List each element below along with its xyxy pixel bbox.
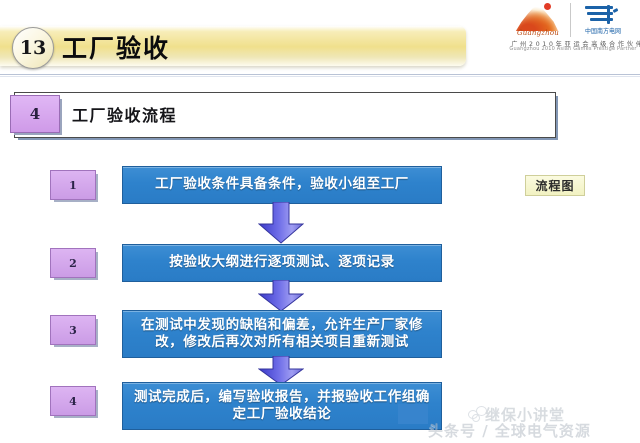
flow-node-text-2: 按验收大纲进行逐项测试、逐项记录 — [161, 254, 403, 271]
step-badge-label-1: 1 — [69, 179, 77, 192]
step-badge-1: 1 — [50, 170, 96, 200]
flow-arrow-2 — [258, 280, 304, 312]
watermark-line-2: 头条号 / 全球电气资源 — [428, 420, 591, 441]
step-badge-2: 2 — [50, 248, 96, 278]
watermark: 继保小讲堂 头条号 / 全球电气资源 — [430, 404, 640, 443]
flow-node-text-4: 测试完成后，编写验收报告，并报验收工作组确定工厂验收结论 — [123, 389, 441, 424]
flow-node-4[interactable]: 测试完成后，编写验收报告，并报验收工作组确定工厂验收结论 — [122, 382, 442, 430]
flow-node-2[interactable]: 按验收大纲进行逐项测试、逐项记录 — [122, 244, 442, 282]
flow-node-text-3: 在测试中发现的缺陷和偏差，允许生产厂家修改，修改后再次对所有相关项目重新测试 — [123, 317, 441, 352]
step-badge-4: 4 — [50, 386, 96, 416]
step-badge-label-4: 4 — [69, 395, 77, 408]
flow-node-3[interactable]: 在测试中发现的缺陷和偏差，允许生产厂家修改，修改后再次对所有相关项目重新测试 — [122, 310, 442, 358]
step-badge-label-3: 3 — [69, 324, 77, 337]
flow-arrow-1 — [258, 202, 304, 244]
bottom-blue-chip — [398, 404, 428, 424]
slide-canvas: Guangzhou 中国南方电网 广 州 2 0 1 0 年 亚 运 会 高 级… — [0, 0, 640, 443]
flowchart: 1 工厂验收条件具备条件，验收小组至工厂 2 按验收大纲进行逐项测试、逐 — [0, 0, 640, 443]
step-badge-3: 3 — [50, 315, 96, 345]
step-badge-label-2: 2 — [69, 257, 77, 270]
flow-node-1[interactable]: 工厂验收条件具备条件，验收小组至工厂 — [122, 166, 442, 204]
flow-node-text-1: 工厂验收条件具备条件，验收小组至工厂 — [147, 176, 417, 193]
